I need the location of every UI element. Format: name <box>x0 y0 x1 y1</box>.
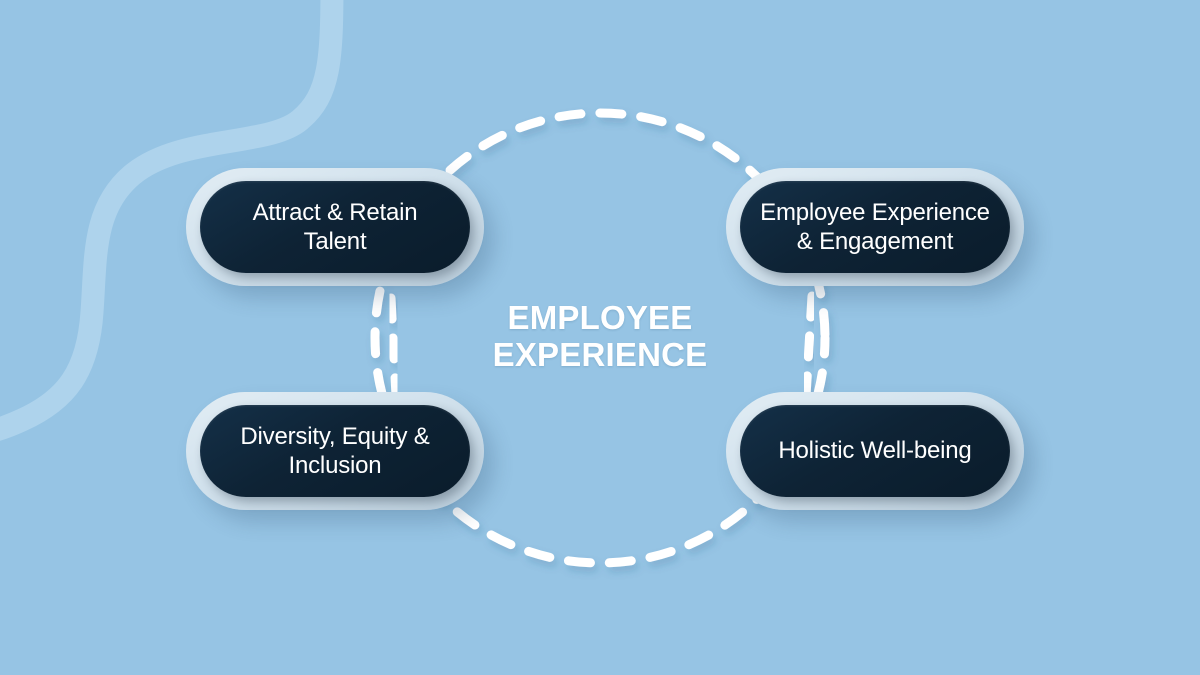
connector-left-vertical <box>391 298 396 396</box>
node-label: Attract & Retain Talent <box>253 198 418 257</box>
node-label: Diversity, Equity & Inclusion <box>240 422 429 481</box>
diagram-canvas: Attract & Retain Talent Employee Experie… <box>0 0 1200 675</box>
node-attract-retain[interactable]: Attract & Retain Talent <box>186 168 484 286</box>
connector-right-vertical <box>806 296 812 396</box>
node-label: Holistic Well-being <box>778 436 971 465</box>
node-employee-experience-engagement[interactable]: Employee Experience & Engagement <box>726 168 1024 286</box>
node-body: Diversity, Equity & Inclusion <box>200 405 470 497</box>
node-holistic-well-being[interactable]: Holistic Well-being <box>726 392 1024 510</box>
node-body: Holistic Well-being <box>740 405 1010 497</box>
node-body: Employee Experience & Engagement <box>740 181 1010 273</box>
node-body: Attract & Retain Talent <box>200 181 470 273</box>
node-label: Employee Experience & Engagement <box>760 198 990 257</box>
center-title: EMPLOYEE EXPERIENCE <box>430 300 770 374</box>
node-diversity-equity-inclusion[interactable]: Diversity, Equity & Inclusion <box>186 392 484 510</box>
